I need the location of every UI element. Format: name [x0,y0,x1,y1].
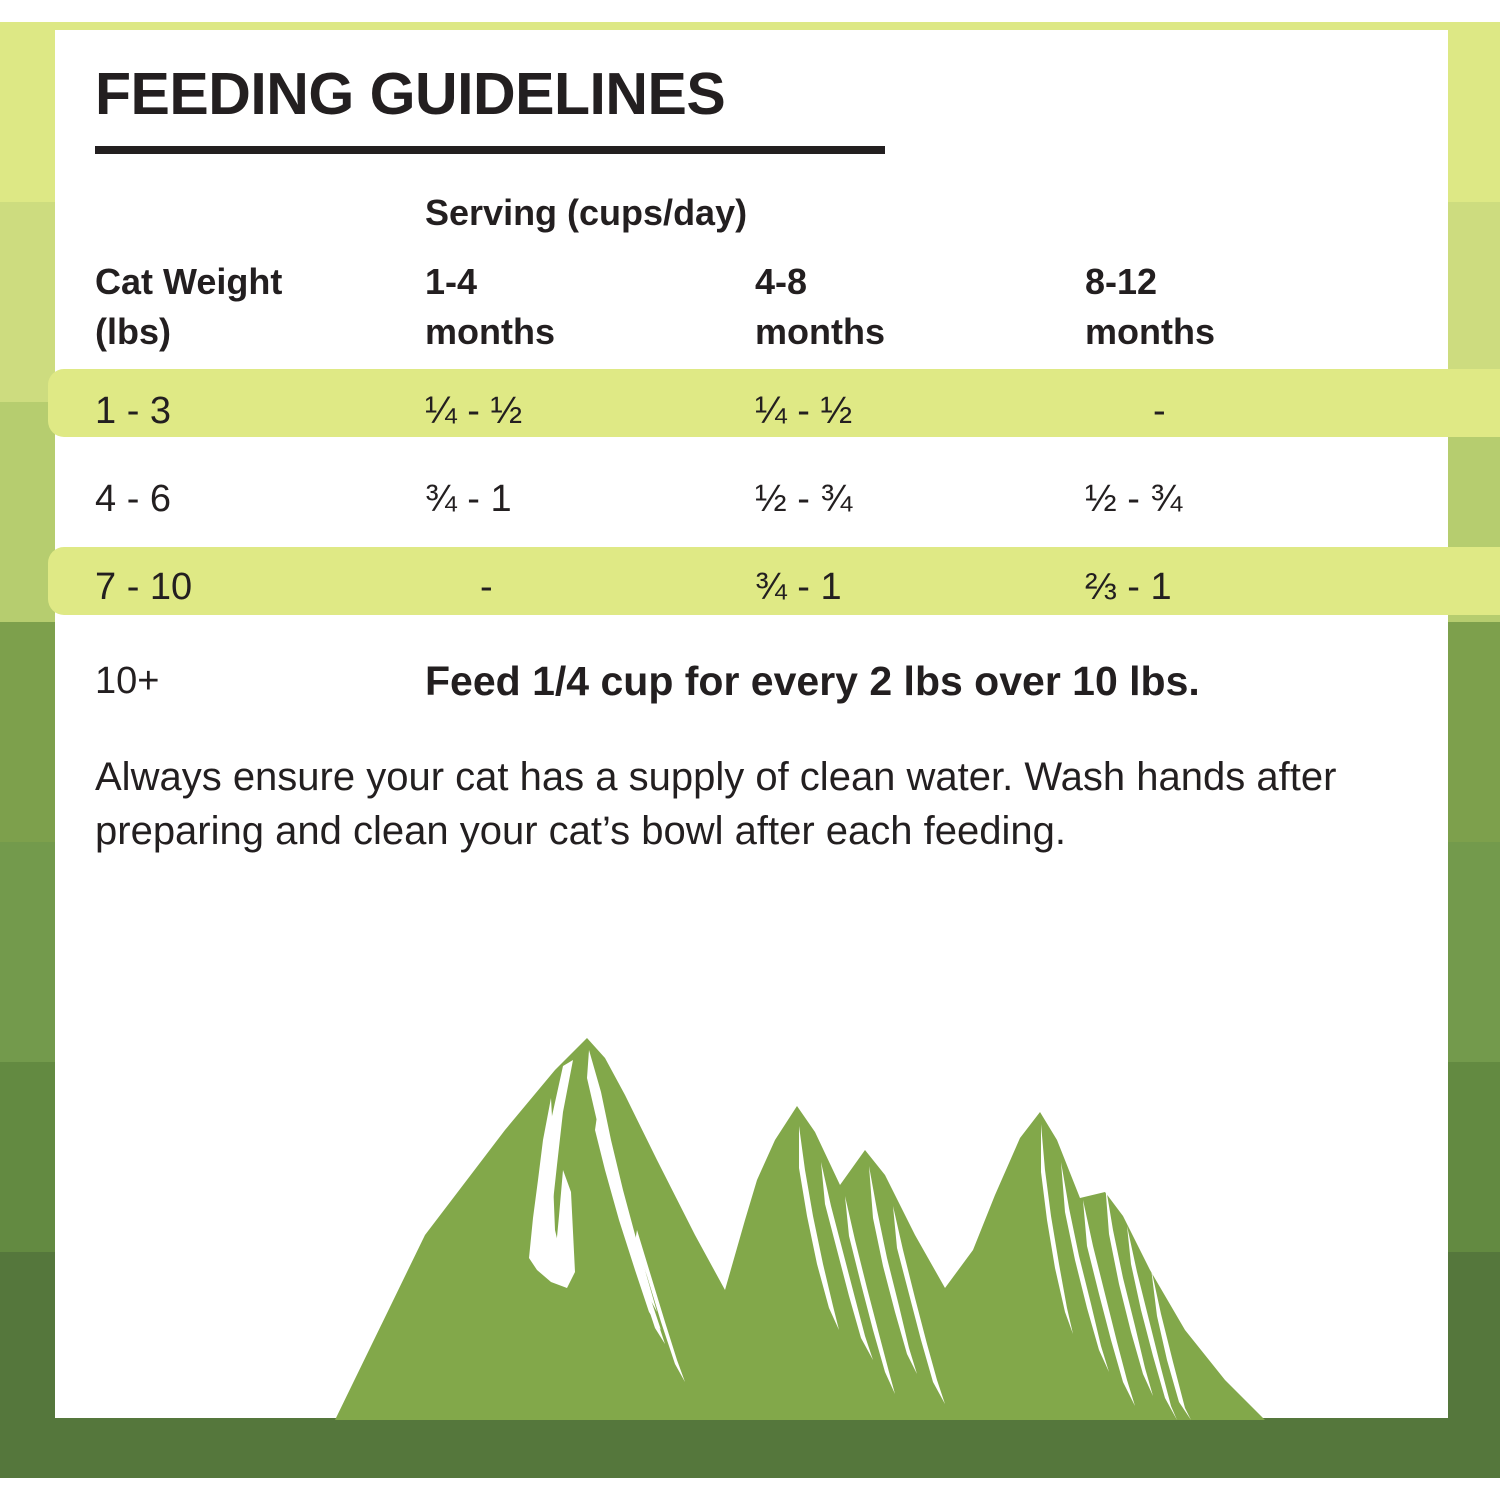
column-header-4-8-months: 4-8 months [755,257,1085,358]
table-row: 4 - 6 ¾ - 1 ½ - ¾ ½ - ¾ [95,455,1445,543]
cell-weight: 10+ [95,660,425,703]
table-serving-header-row: Serving (cups/day) [95,195,1445,257]
cell-weight: 7 - 10 [95,568,425,606]
mountain-range-logo [305,1020,1305,1420]
column-header-line1: Cat Weight [95,257,425,307]
column-header-line1: 8-12 [1085,257,1415,307]
cell-4-8-months: ¼ - ½ [755,392,1085,430]
cell-8-12-months: ½ - ¾ [1085,480,1415,518]
table-row: 7 - 10 - ¾ - 1 ⅔ - 1 [95,543,1445,631]
column-header-cat-weight: Cat Weight (lbs) [95,257,425,358]
cell-1-4-months: - [425,568,755,606]
table-row: 1 - 3 ¼ - ½ ¼ - ½ - [95,367,1445,455]
page-title: FEEDING GUIDELINES [95,65,885,124]
cell-1-4-months: ¼ - ½ [425,392,755,430]
serving-header-label: Serving (cups/day) [425,195,747,231]
title-underline-rule [95,146,885,154]
table-header-row: Cat Weight (lbs) 1-4 months 4-8 months 8… [95,257,1445,367]
column-header-line1: 1-4 [425,257,755,307]
disclaimer-text: Always ensure your cat has a supply of c… [95,750,1405,858]
overflow-feeding-note: Feed 1/4 cup for every 2 lbs over 10 lbs… [425,658,1200,705]
cell-1-4-months: ¾ - 1 [425,480,755,518]
feeding-guidelines-card: FEEDING GUIDELINES Serving (cups/day) Ca… [55,30,1448,1418]
cell-4-8-months: ¾ - 1 [755,568,1085,606]
cell-4-8-months: ½ - ¾ [755,480,1085,518]
title-block: FEEDING GUIDELINES [95,65,885,154]
column-header-line2: months [1085,307,1415,357]
feeding-table: Serving (cups/day) Cat Weight (lbs) 1-4 … [95,195,1445,731]
column-header-line2: (lbs) [95,307,425,357]
cell-8-12-months: ⅔ - 1 [1085,568,1415,606]
mountain-shape [335,1038,1265,1420]
column-header-8-12-months: 8-12 months [1085,257,1415,358]
column-header-line2: months [425,307,755,357]
cell-weight: 4 - 6 [95,480,425,518]
column-header-line2: months [755,307,1085,357]
column-header-1-4-months: 1-4 months [425,257,755,358]
cell-weight: 1 - 3 [95,392,425,430]
table-row-overflow: 10+ Feed 1/4 cup for every 2 lbs over 10… [95,631,1445,731]
column-header-line1: 4-8 [755,257,1085,307]
cell-8-12-months: - [1085,392,1415,430]
